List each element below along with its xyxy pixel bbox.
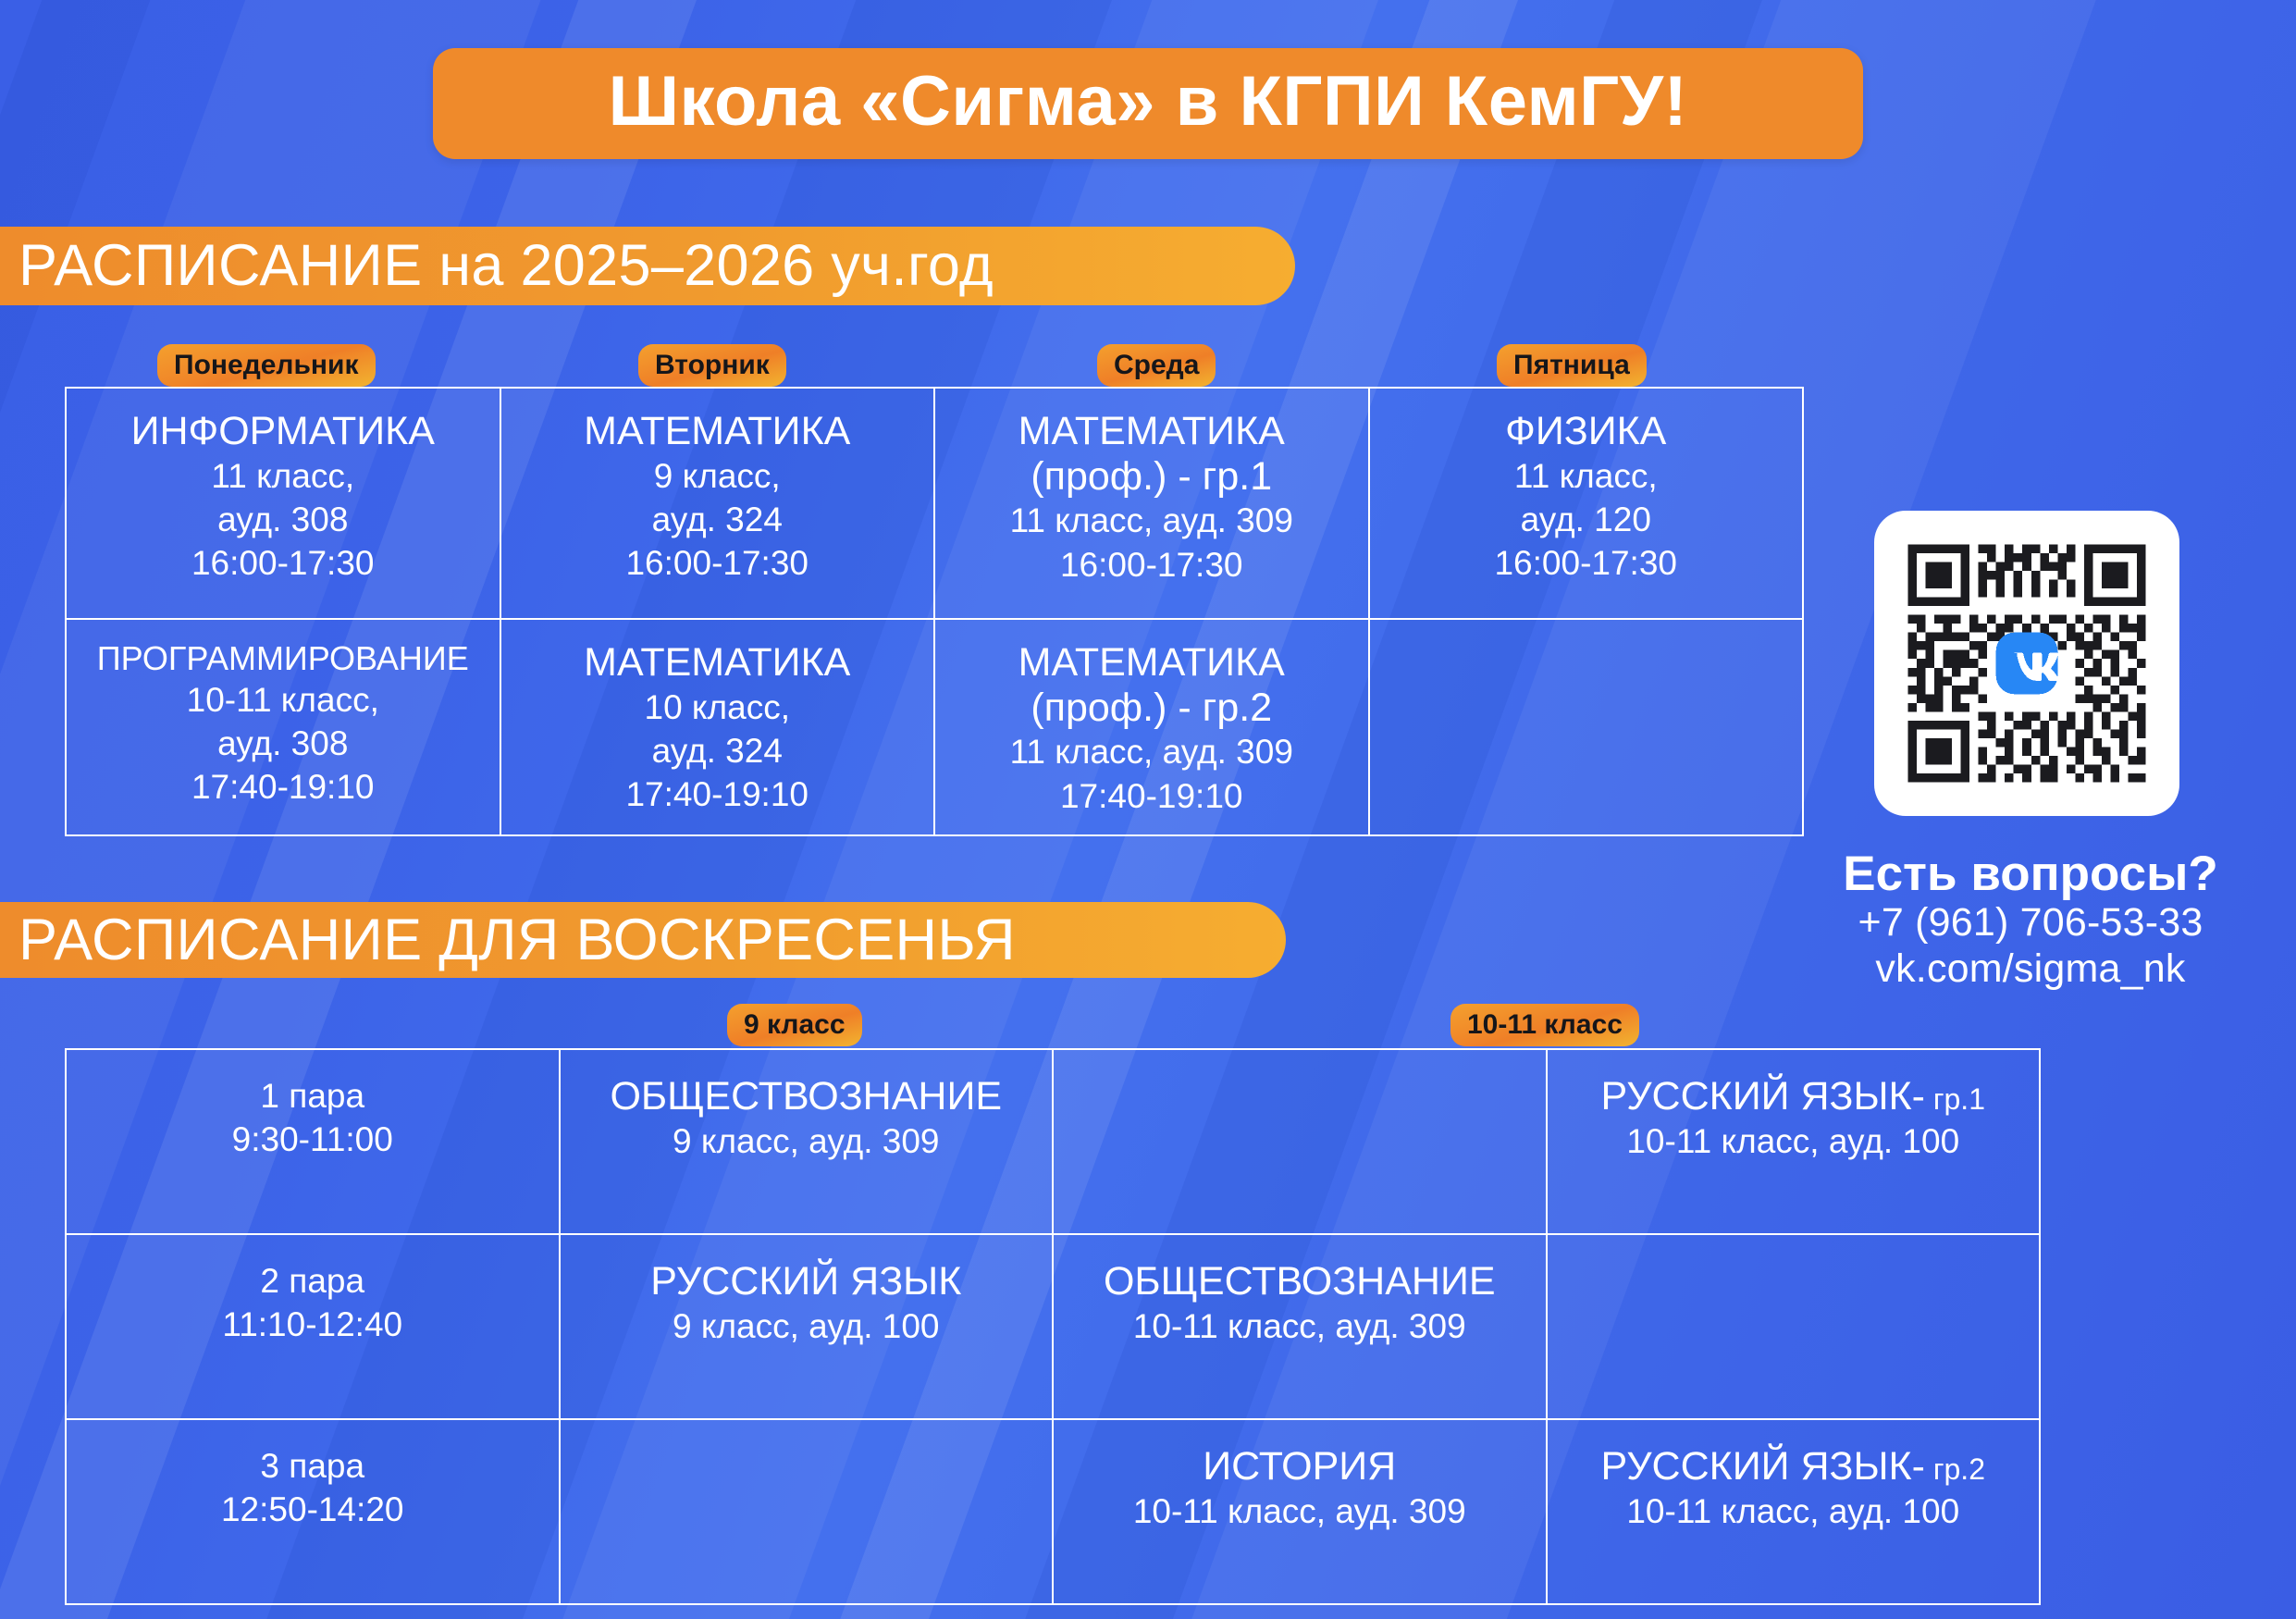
qr-code-card[interactable] bbox=[1874, 511, 2179, 816]
cell-subject: ОБЩЕСТВОЗНАНИЕ bbox=[1063, 1259, 1537, 1304]
cell-detail: 9 класс, ауд. 309 bbox=[570, 1119, 1043, 1163]
cell-detail: 10-11 класс, ауд. 100 bbox=[1557, 1119, 2031, 1163]
cell-time: 16:00-17:30 bbox=[1379, 541, 1794, 585]
cell-subject: ПРОГРАММИРОВАНИЕ bbox=[76, 640, 490, 678]
cell-detail: ауд. 120 bbox=[1379, 498, 1794, 541]
schedule-cell: ФИЗИКА 11 класс, ауд. 120 16:00-17:30 bbox=[1369, 388, 1804, 619]
day-label-friday: Пятница bbox=[1497, 344, 1647, 387]
cell-detail: ауд. 324 bbox=[511, 729, 925, 772]
schedule-cell: ИСТОРИЯ 10-11 класс, ауд. 309 bbox=[1053, 1419, 1547, 1604]
cell-time: 16:00-17:30 bbox=[76, 541, 490, 585]
cell-detail: 11 класс, bbox=[1379, 454, 1794, 498]
page-title-badge: Школа «Сигма» в КГПИ КемГУ! bbox=[433, 48, 1863, 159]
vk-logo-icon bbox=[1996, 633, 2059, 695]
class-label-text: 10-11 класс bbox=[1467, 1011, 1623, 1039]
table-row: 3 пара 12:50-14:20 ИСТОРИЯ 10-11 класс, … bbox=[66, 1419, 2040, 1604]
day-label-text: Понедельник bbox=[174, 352, 359, 379]
schedule-time-cell: 2 пара 11:10-12:40 bbox=[66, 1234, 560, 1419]
cell-subject: РУССКИЙ ЯЗЫК- гр.1 bbox=[1557, 1074, 2031, 1119]
day-label-wednesday: Среда bbox=[1097, 344, 1216, 387]
contact-phone[interactable]: +7 (961) 706-53-33 bbox=[1813, 900, 2248, 946]
schedule-cell: ИНФОРМАТИКА 11 класс, ауд. 308 16:00-17:… bbox=[66, 388, 500, 619]
cell-subject-text: РУССКИЙ ЯЗЫК- bbox=[1601, 1074, 1925, 1118]
table-row: ПРОГРАММИРОВАНИЕ 10-11 класс, ауд. 308 1… bbox=[66, 619, 1803, 835]
class-label-text: 9 класс bbox=[744, 1011, 846, 1039]
cell-detail: 10 класс, bbox=[511, 686, 925, 729]
cell-time: 11:10-12:40 bbox=[76, 1303, 549, 1346]
contact-vk-link[interactable]: vk.com/sigma_nk bbox=[1813, 946, 2248, 993]
schedule-cell: РУССКИЙ ЯЗЫК- гр.2 10-11 класс, ауд. 100 bbox=[1547, 1419, 2041, 1604]
cell-subject-group: гр.1 bbox=[1925, 1082, 1985, 1116]
schedule-cell-empty bbox=[1547, 1234, 2041, 1419]
cell-subject: ИНФОРМАТИКА bbox=[76, 409, 490, 454]
day-label-text: Вторник bbox=[655, 352, 770, 379]
cell-pair: 2 пара bbox=[76, 1259, 549, 1303]
day-label-monday: Понедельник bbox=[157, 344, 376, 387]
weekly-schedule-banner: РАСПИСАНИЕ на 2025–2026 уч.год bbox=[0, 227, 1295, 305]
class-label-9: 9 класс bbox=[727, 1004, 862, 1046]
cell-detail: ауд. 308 bbox=[76, 498, 490, 541]
cell-detail: 10-11 класс, ауд. 100 bbox=[1557, 1489, 2031, 1533]
day-label-text: Пятница bbox=[1513, 352, 1630, 379]
cell-time: 9:30-11:00 bbox=[76, 1118, 549, 1161]
schedule-cell: ПРОГРАММИРОВАНИЕ 10-11 класс, ауд. 308 1… bbox=[66, 619, 500, 835]
cell-detail: ауд. 324 bbox=[511, 498, 925, 541]
cell-subject-text: РУССКИЙ ЯЗЫК- bbox=[1601, 1444, 1925, 1489]
cell-subject: ИСТОРИЯ bbox=[1063, 1444, 1537, 1489]
table-row: 2 пара 11:10-12:40 РУССКИЙ ЯЗЫК 9 класс,… bbox=[66, 1234, 2040, 1419]
schedule-cell-empty bbox=[1369, 619, 1804, 835]
cell-detail: 9 класс, bbox=[511, 454, 925, 498]
cell-detail: 10-11 класс, bbox=[76, 678, 490, 722]
schedule-cell: ОБЩЕСТВОЗНАНИЕ 10-11 класс, ауд. 309 bbox=[1053, 1234, 1547, 1419]
cell-subject: МАТЕМАТИКА bbox=[511, 409, 925, 454]
cell-time: 17:40-19:10 bbox=[76, 765, 490, 809]
cell-detail: 11 класс, ауд. 309 bbox=[944, 730, 1359, 773]
cell-subject: РУССКИЙ ЯЗЫК- гр.2 bbox=[1557, 1444, 2031, 1489]
cell-time: 12:50-14:20 bbox=[76, 1488, 549, 1531]
cell-detail: 10-11 класс, ауд. 309 bbox=[1063, 1489, 1537, 1533]
schedule-cell-empty bbox=[1053, 1049, 1547, 1234]
cell-subject: МАТЕМАТИКА bbox=[511, 640, 925, 686]
cell-time: 16:00-17:30 bbox=[944, 543, 1359, 587]
schedule-time-cell: 1 пара 9:30-11:00 bbox=[66, 1049, 560, 1234]
qr-code-icon bbox=[1899, 536, 2154, 791]
cell-subject-group: гр.2 bbox=[1925, 1452, 1985, 1486]
schedule-cell: МАТЕМАТИКА 9 класс, ауд. 324 16:00-17:30 bbox=[500, 388, 935, 619]
cell-subject-group: (проф.) - гр.1 bbox=[944, 454, 1359, 500]
cell-subject: МАТЕМАТИКА bbox=[944, 409, 1359, 454]
cell-time: 17:40-19:10 bbox=[511, 772, 925, 816]
cell-subject: МАТЕМАТИКА bbox=[944, 640, 1359, 686]
cell-time: 17:40-19:10 bbox=[944, 774, 1359, 818]
cell-detail: 10-11 класс, ауд. 309 bbox=[1063, 1304, 1537, 1348]
contact-question: Есть вопросы? bbox=[1813, 847, 2248, 900]
page-title: Школа «Сигма» в КГПИ КемГУ! bbox=[609, 67, 1688, 137]
cell-detail: 11 класс, bbox=[76, 454, 490, 498]
cell-subject: ФИЗИКА bbox=[1379, 409, 1794, 454]
poster-canvas: Школа «Сигма» в КГПИ КемГУ! РАСПИСАНИЕ н… bbox=[0, 0, 2296, 1619]
contact-block: Есть вопросы? +7 (961) 706-53-33 vk.com/… bbox=[1813, 847, 2248, 993]
schedule-cell: ОБЩЕСТВОЗНАНИЕ 9 класс, ауд. 309 bbox=[560, 1049, 1054, 1234]
day-label-text: Среда bbox=[1114, 352, 1199, 379]
schedule-cell: РУССКИЙ ЯЗЫК- гр.1 10-11 класс, ауд. 100 bbox=[1547, 1049, 2041, 1234]
cell-subject-group: (проф.) - гр.2 bbox=[944, 686, 1359, 731]
schedule-cell: МАТЕМАТИКА (проф.) - гр.2 11 класс, ауд.… bbox=[934, 619, 1369, 835]
weekly-schedule-banner-label: РАСПИСАНИЕ на 2025–2026 уч.год bbox=[0, 237, 994, 295]
cell-pair: 3 пара bbox=[76, 1444, 549, 1488]
cell-subject: ОБЩЕСТВОЗНАНИЕ bbox=[570, 1074, 1043, 1119]
day-label-tuesday: Вторник bbox=[638, 344, 786, 387]
sunday-schedule-table: 1 пара 9:30-11:00 ОБЩЕСТВОЗНАНИЕ 9 класс… bbox=[65, 1048, 2041, 1605]
schedule-cell: МАТЕМАТИКА (проф.) - гр.1 11 класс, ауд.… bbox=[934, 388, 1369, 619]
cell-pair: 1 пара bbox=[76, 1074, 549, 1118]
table-row: 1 пара 9:30-11:00 ОБЩЕСТВОЗНАНИЕ 9 класс… bbox=[66, 1049, 2040, 1234]
sunday-schedule-banner: РАСПИСАНИЕ ДЛЯ ВОСКРЕСЕНЬЯ bbox=[0, 902, 1286, 978]
schedule-cell-empty bbox=[560, 1419, 1054, 1604]
schedule-cell: МАТЕМАТИКА 10 класс, ауд. 324 17:40-19:1… bbox=[500, 619, 935, 835]
schedule-time-cell: 3 пара 12:50-14:20 bbox=[66, 1419, 560, 1604]
schedule-cell: РУССКИЙ ЯЗЫК 9 класс, ауд. 100 bbox=[560, 1234, 1054, 1419]
table-row: ИНФОРМАТИКА 11 класс, ауд. 308 16:00-17:… bbox=[66, 388, 1803, 619]
cell-time: 16:00-17:30 bbox=[511, 541, 925, 585]
cell-detail: 9 класс, ауд. 100 bbox=[570, 1304, 1043, 1348]
class-label-10-11: 10-11 класс bbox=[1450, 1004, 1639, 1046]
sunday-schedule-banner-label: РАСПИСАНИЕ ДЛЯ ВОСКРЕСЕНЬЯ bbox=[0, 911, 1016, 970]
cell-detail: 11 класс, ауд. 309 bbox=[944, 499, 1359, 542]
cell-subject: РУССКИЙ ЯЗЫК bbox=[570, 1259, 1043, 1304]
cell-detail: ауд. 308 bbox=[76, 722, 490, 765]
weekly-schedule-table: ИНФОРМАТИКА 11 класс, ауд. 308 16:00-17:… bbox=[65, 387, 1804, 836]
